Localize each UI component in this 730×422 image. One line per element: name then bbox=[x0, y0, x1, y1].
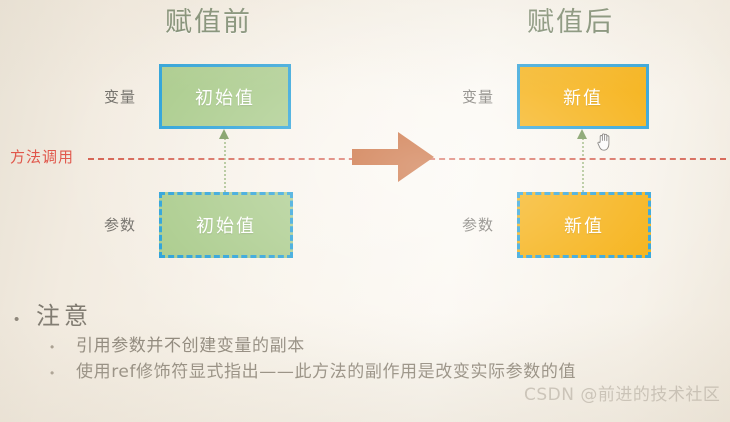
up-arrow-icon-after bbox=[577, 129, 587, 139]
box-variable-after-value: 新值 bbox=[563, 84, 603, 110]
watermark: CSDN @前进的技术社区 bbox=[524, 384, 720, 406]
note-item-2: 使用ref修饰符显式指出——此方法的副作用是改变实际参数的值 bbox=[76, 360, 576, 385]
note-item-row: • 引用参数并不创建变量的副本 bbox=[0, 334, 730, 359]
label-parameter-before: 参数 bbox=[104, 216, 136, 234]
box-parameter-before: 初始值 bbox=[159, 192, 293, 258]
panel-title-after: 赋值后 bbox=[527, 6, 614, 40]
note-heading: 注意 bbox=[36, 300, 92, 332]
hand-cursor-icon bbox=[596, 131, 614, 152]
right-arrow-icon bbox=[352, 128, 436, 186]
sub-bullet-icon: • bbox=[50, 335, 76, 359]
box-parameter-after: 新值 bbox=[517, 192, 651, 258]
label-parameter-after: 参数 bbox=[462, 216, 494, 234]
label-variable-after: 变量 bbox=[462, 88, 494, 106]
sub-bullet-icon: • bbox=[50, 361, 76, 385]
method-call-label: 方法调用 bbox=[10, 148, 74, 167]
connector-line-after bbox=[582, 138, 584, 192]
up-arrow-icon-before bbox=[219, 129, 229, 139]
panel-title-before: 赋值前 bbox=[165, 6, 252, 40]
note-item-row: • 使用ref修饰符显式指出——此方法的副作用是改变实际参数的值 bbox=[0, 360, 730, 385]
label-variable-before: 变量 bbox=[104, 88, 136, 106]
note-item-1: 引用参数并不创建变量的副本 bbox=[76, 334, 305, 359]
box-parameter-before-value: 初始值 bbox=[196, 212, 256, 238]
bullet-icon: • bbox=[14, 307, 36, 333]
slide-canvas: 赋值前 赋值后 变量 初始值 参数 初始值 变量 新值 参数 新值 方法调用 •… bbox=[0, 0, 730, 422]
notes-block: • 注意 • 引用参数并不创建变量的副本 • 使用ref修饰符显式指出——此方法… bbox=[0, 300, 730, 385]
box-variable-after: 新值 bbox=[517, 64, 649, 129]
connector-line-before bbox=[224, 138, 226, 192]
box-parameter-after-value: 新值 bbox=[564, 212, 604, 238]
box-variable-before-value: 初始值 bbox=[195, 84, 255, 110]
note-heading-row: • 注意 bbox=[0, 300, 730, 333]
box-variable-before: 初始值 bbox=[159, 64, 291, 129]
